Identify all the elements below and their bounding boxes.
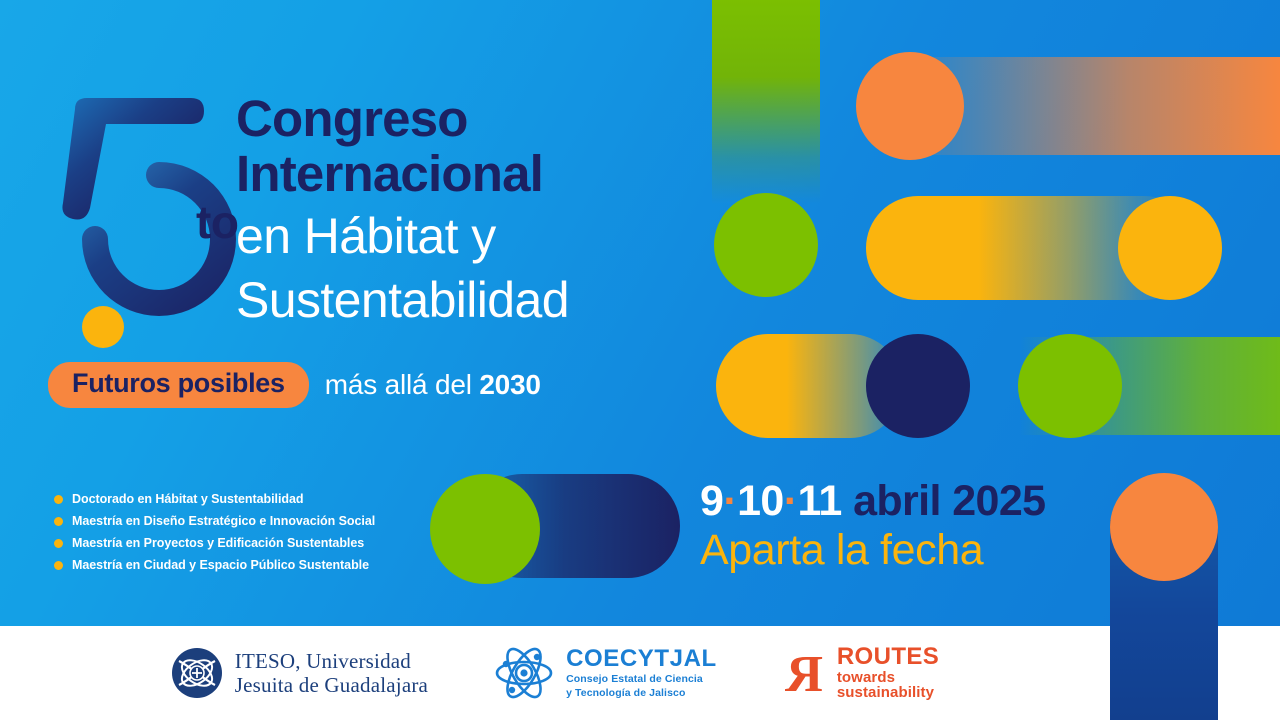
atom-icon xyxy=(494,645,554,701)
orange-circle-bottom-shape xyxy=(1110,473,1218,581)
list-item: Maestría en Proyectos y Edificación Sust… xyxy=(54,534,434,552)
bullet-icon xyxy=(54,517,63,526)
navy-circle-shape xyxy=(866,334,970,438)
iteso-wordmark: ITESO, Universidad Jesuita de Guadalajar… xyxy=(235,649,428,698)
date-day-2: 10 xyxy=(737,477,784,525)
title-line-2: Internacional xyxy=(236,147,936,202)
date-day-1: 9 xyxy=(700,477,723,525)
list-item: Doctorado en Hábitat y Sustentabilidad xyxy=(54,490,434,508)
iteso-emblem-icon xyxy=(171,647,223,699)
list-item: Maestría en Diseño Estratégico e Innovac… xyxy=(54,512,434,530)
coecytjal-name: COECYTJAL xyxy=(566,646,717,671)
headline-block: Congreso Internacional en Hábitat y Sust… xyxy=(236,92,936,329)
yellow-circle-shape xyxy=(1118,196,1222,300)
routes-logo: R ROUTES towards sustainability xyxy=(783,645,939,700)
subtitle-line-2: Sustentabilidad xyxy=(236,271,936,329)
date-separator-1: · xyxy=(723,477,737,525)
routes-sub-line-2: sustainability xyxy=(837,685,939,700)
save-the-date-text: Aparta la fecha xyxy=(700,526,1045,574)
bullet-icon xyxy=(54,495,63,504)
tagline-rest-year: 2030 xyxy=(479,369,541,400)
coecytjal-sub-line-2: y Tecnología de Jalisco xyxy=(566,687,717,700)
coecytjal-wordmark: COECYTJAL Consejo Estatal de Ciencia y T… xyxy=(566,646,717,699)
amber-dot-icon xyxy=(82,306,124,348)
date-day-3: 11 xyxy=(797,477,841,525)
coecytjal-sub-line-1: Consejo Estatal de Ciencia xyxy=(566,673,717,686)
subtitle-line-1: en Hábitat y xyxy=(236,207,936,265)
date-month-year: abril 2025 xyxy=(853,477,1045,525)
edition-suffix: to xyxy=(196,199,238,245)
routes-mark-icon: R xyxy=(783,647,825,699)
tagline-block: Futuros posibles más allá del 2030 xyxy=(48,362,541,408)
routes-sub-line-1: towards xyxy=(837,670,939,685)
program-label: Maestría en Diseño Estratégico e Innovac… xyxy=(72,512,375,530)
iteso-logo: ITESO, Universidad Jesuita de Guadalajar… xyxy=(171,647,428,699)
title-line-1: Congreso xyxy=(236,92,936,147)
tagline-rest-prefix: más allá del xyxy=(325,369,480,400)
list-item: Maestría en Ciudad y Espacio Público Sus… xyxy=(54,556,434,574)
bullet-icon xyxy=(54,539,63,548)
iteso-line-1: ITESO, Universidad xyxy=(235,649,428,673)
coecytjal-subtitle: Consejo Estatal de Ciencia y Tecnología … xyxy=(566,673,717,699)
programs-list: Doctorado en Hábitat y Sustentabilidad M… xyxy=(54,490,434,579)
sponsor-logos: ITESO, Universidad Jesuita de Guadalajar… xyxy=(0,626,1110,720)
routes-name: ROUTES xyxy=(837,645,939,669)
coecytjal-logo: COECYTJAL Consejo Estatal de Ciencia y T… xyxy=(494,645,717,701)
program-label: Doctorado en Hábitat y Sustentabilidad xyxy=(72,490,303,508)
tagline-rest: más allá del 2030 xyxy=(325,369,541,401)
green-circle-lower-shape xyxy=(1018,334,1122,438)
bullet-icon xyxy=(54,561,63,570)
date-line: 9·10·11 abril 2025 xyxy=(700,478,1045,524)
green-circle-bottom-shape xyxy=(430,474,540,584)
date-separator-2: · xyxy=(784,477,798,525)
routes-wordmark: ROUTES towards sustainability xyxy=(837,645,939,700)
congress-poster: to Congreso Internacional en Hábitat y S… xyxy=(0,0,1280,720)
date-block: 9·10·11 abril 2025 Aparta la fecha xyxy=(700,478,1045,575)
program-label: Maestría en Ciudad y Espacio Público Sus… xyxy=(72,556,369,574)
tagline-badge: Futuros posibles xyxy=(48,362,309,408)
svg-text:R: R xyxy=(784,647,823,699)
iteso-line-2: Jesuita de Guadalajara xyxy=(235,673,428,697)
program-label: Maestría en Proyectos y Edificación Sust… xyxy=(72,534,364,552)
